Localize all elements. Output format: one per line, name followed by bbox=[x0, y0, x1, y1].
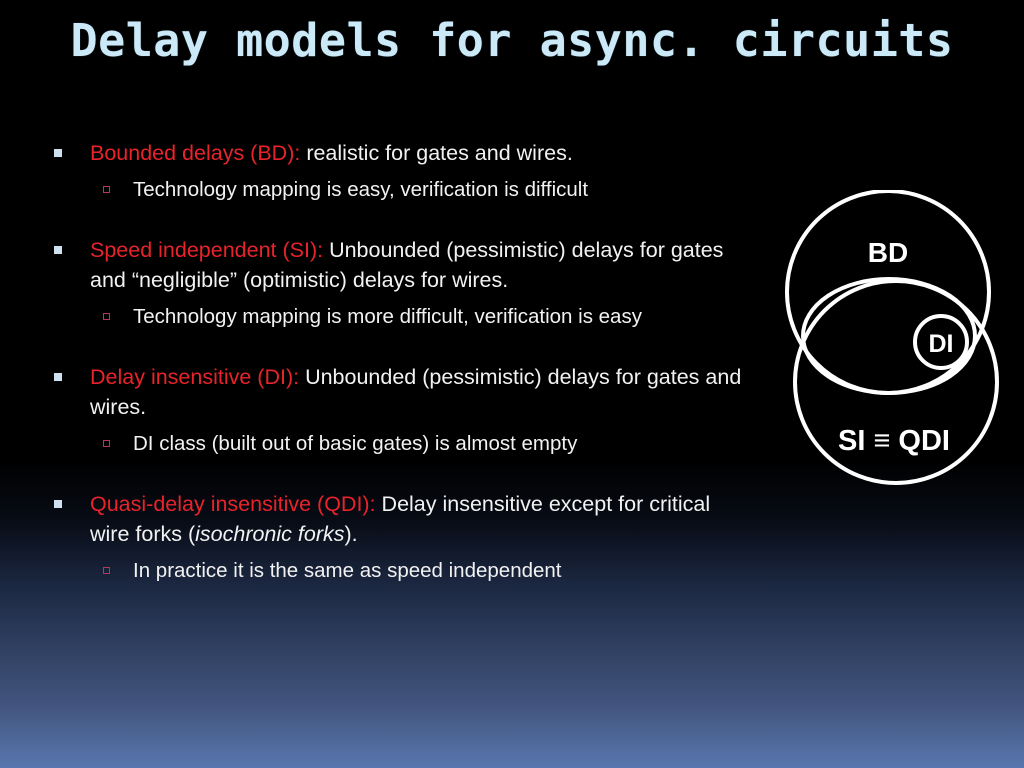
slide-canvas: Delay models for async. circuits Bounded… bbox=[0, 0, 1024, 768]
venn-label-si-qdi: SI ≡ QDI bbox=[838, 425, 950, 457]
bullet-lead-bd: Bounded delays (BD): bbox=[90, 141, 300, 165]
subbullet-text-di: DI class (built out of basic gates) is a… bbox=[133, 432, 577, 455]
bullet-item-di: Delay insensitive (DI): Unbounded (pessi… bbox=[48, 362, 748, 422]
subbullet-item-di: DI class (built out of basic gates) is a… bbox=[48, 430, 748, 458]
venn-label-bd: BD bbox=[868, 237, 908, 268]
bullet-square-icon bbox=[54, 246, 62, 254]
venn-label-di: DI bbox=[929, 330, 954, 358]
bullet-item-bd: Bounded delays (BD): realistic for gates… bbox=[48, 138, 748, 168]
subbullet-item-qdi: In practice it is the same as speed inde… bbox=[48, 557, 748, 585]
subbullet-square-icon bbox=[103, 313, 110, 320]
bullet-square-icon bbox=[54, 149, 62, 157]
bullet-text-bd: realistic for gates and wires. bbox=[300, 141, 572, 165]
page-title: Delay models for async. circuits bbox=[0, 14, 1024, 67]
subbullet-square-icon bbox=[103, 567, 110, 574]
subbullet-text-qdi: In practice it is the same as speed inde… bbox=[133, 559, 562, 582]
subbullet-text-si: Technology mapping is more difficult, ve… bbox=[133, 305, 642, 328]
bullet-lead-si: Speed independent (SI): bbox=[90, 238, 323, 262]
venn-diagram: BD DI SI ≡ QDI bbox=[770, 190, 1020, 500]
subbullet-square-icon bbox=[103, 186, 110, 193]
bullet-item-si: Speed independent (SI): Unbounded (pessi… bbox=[48, 235, 748, 295]
bullet-square-icon bbox=[54, 500, 62, 508]
subbullet-item-bd: Technology mapping is easy, verification… bbox=[48, 176, 748, 204]
subbullet-square-icon bbox=[103, 440, 110, 447]
bullet-list: Bounded delays (BD): realistic for gates… bbox=[48, 138, 748, 585]
bullet-group-bd: Bounded delays (BD): realistic for gates… bbox=[48, 138, 748, 204]
bullet-text-qdi-italic: isochronic forks bbox=[195, 522, 344, 546]
bullet-lead-qdi: Quasi-delay insensitive (QDI): bbox=[90, 492, 376, 516]
bullet-square-icon bbox=[54, 373, 62, 381]
bullet-text-qdi-post: ). bbox=[344, 522, 357, 546]
bullet-group-qdi: Quasi-delay insensitive (QDI): Delay ins… bbox=[48, 489, 748, 585]
bullet-group-di: Delay insensitive (DI): Unbounded (pessi… bbox=[48, 362, 748, 458]
subbullet-item-si: Technology mapping is more difficult, ve… bbox=[48, 303, 748, 331]
bullet-item-qdi: Quasi-delay insensitive (QDI): Delay ins… bbox=[48, 489, 748, 549]
bullet-lead-di: Delay insensitive (DI): bbox=[90, 365, 299, 389]
subbullet-text-bd: Technology mapping is easy, verification… bbox=[133, 178, 588, 201]
bullet-group-si: Speed independent (SI): Unbounded (pessi… bbox=[48, 235, 748, 331]
